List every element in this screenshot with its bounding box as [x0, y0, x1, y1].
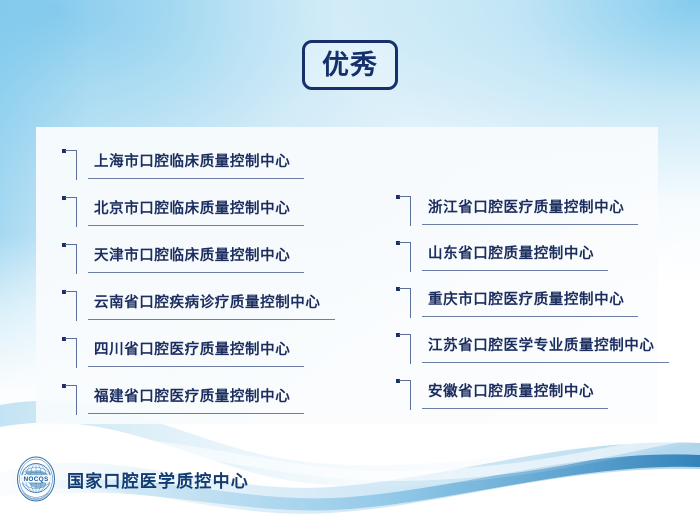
connector-elbow-icon	[399, 334, 411, 364]
connector-elbow-icon	[399, 380, 411, 410]
list-item-label: 四川省口腔医疗质量控制中心	[88, 342, 304, 367]
connector-elbow-icon	[65, 338, 77, 368]
list-item-label: 安徽省口腔质量控制中心	[422, 384, 608, 409]
connector-elbow-icon	[65, 385, 77, 415]
connector-elbow-icon	[399, 196, 411, 226]
list-item-label: 重庆市口腔医疗质量控制中心	[422, 292, 638, 317]
list-item-label: 北京市口腔临床质量控制中心	[88, 201, 304, 226]
organization-name: 国家口腔医学质控中心	[67, 467, 249, 492]
list-item-label: 江苏省口腔医学专业质量控制中心	[422, 338, 669, 363]
slide-canvas: 优秀 上海市口腔临床质量控制中心 北京市口腔临床质量控制中心 天津市口腔临床质量…	[0, 0, 700, 525]
slide-title-box: 优秀	[302, 40, 398, 90]
connector-elbow-icon	[65, 291, 77, 321]
connector-elbow-icon	[65, 244, 77, 274]
connector-elbow-icon	[399, 288, 411, 318]
connector-elbow-icon	[65, 197, 77, 227]
list-item-label: 天津市口腔临床质量控制中心	[88, 248, 304, 273]
connector-elbow-icon	[65, 150, 77, 180]
connector-elbow-icon	[399, 242, 411, 272]
page-title: 优秀	[322, 52, 378, 79]
list-item-label: 浙江省口腔医疗质量控制中心	[422, 200, 638, 225]
svg-text:NOCQS: NOCQS	[23, 476, 49, 483]
list-item-label: 上海市口腔临床质量控制中心	[88, 154, 304, 179]
list-item-label: 福建省口腔医疗质量控制中心	[88, 389, 304, 414]
footer-branding: NOCQS 国家口腔医学质控中心	[14, 455, 249, 503]
list-item-label: 云南省口腔疾病诊疗质量控制中心	[88, 295, 335, 320]
globe-emblem-icon: NOCQS	[14, 455, 58, 503]
list-item-label: 山东省口腔质量控制中心	[422, 246, 608, 271]
